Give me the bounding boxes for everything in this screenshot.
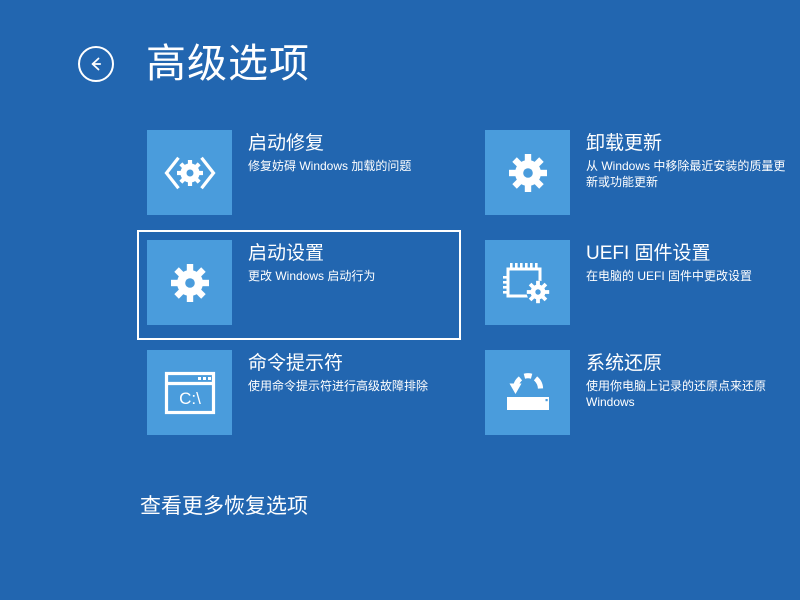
svg-text:C:\: C:\ — [179, 389, 201, 408]
option-text: 系统还原 使用你电脑上记录的还原点来还原 Windows — [570, 350, 789, 410]
option-description: 从 Windows 中移除最近安装的质量更新或功能更新 — [586, 158, 789, 190]
back-arrow-circle-icon[interactable] — [78, 46, 114, 82]
startup-repair-icon — [147, 130, 232, 215]
system-restore-disk-icon — [485, 350, 570, 435]
option-text: 启动设置 更改 Windows 启动行为 — [232, 240, 375, 284]
option-title: UEFI 固件设置 — [586, 242, 752, 266]
option-uninstall-updates[interactable]: 卸载更新 从 Windows 中移除最近安装的质量更新或功能更新 — [475, 120, 799, 230]
option-title: 启动修复 — [248, 132, 411, 156]
page-title: 高级选项 — [146, 44, 310, 84]
option-text: 卸载更新 从 Windows 中移除最近安装的质量更新或功能更新 — [570, 130, 789, 190]
option-system-restore[interactable]: 系统还原 使用你电脑上记录的还原点来还原 Windows — [475, 340, 799, 450]
see-more-recovery-options-link[interactable]: 查看更多恢复选项 — [140, 490, 308, 520]
option-title: 卸载更新 — [586, 132, 789, 156]
option-uefi-firmware-settings[interactable]: UEFI 固件设置 在电脑的 UEFI 固件中更改设置 — [475, 230, 799, 340]
option-startup-repair[interactable]: 启动修复 修复妨碍 Windows 加载的问题 — [137, 120, 461, 230]
option-description: 使用命令提示符进行高级故障排除 — [248, 378, 428, 394]
option-text: UEFI 固件设置 在电脑的 UEFI 固件中更改设置 — [570, 240, 752, 284]
command-prompt-icon: C:\ — [147, 350, 232, 435]
option-startup-settings[interactable]: 启动设置 更改 Windows 启动行为 — [137, 230, 461, 340]
option-text: 启动修复 修复妨碍 Windows 加载的问题 — [232, 130, 411, 174]
page-header: 高级选项 — [78, 36, 310, 92]
option-description: 在电脑的 UEFI 固件中更改设置 — [586, 268, 752, 284]
option-command-prompt[interactable]: C:\ 命令提示符 使用命令提示符进行高级故障排除 — [137, 340, 461, 450]
option-description: 使用你电脑上记录的还原点来还原 Windows — [586, 378, 789, 410]
advanced-options-grid: 启动修复 修复妨碍 Windows 加载的问题 — [137, 120, 767, 450]
uefi-firmware-chip-icon — [485, 240, 570, 325]
option-title: 启动设置 — [248, 242, 375, 266]
option-title: 系统还原 — [586, 352, 789, 376]
uninstall-updates-gear-icon — [485, 130, 570, 215]
option-description: 修复妨碍 Windows 加载的问题 — [248, 158, 411, 174]
option-description: 更改 Windows 启动行为 — [248, 268, 375, 284]
startup-settings-gear-icon — [147, 240, 232, 325]
option-text: 命令提示符 使用命令提示符进行高级故障排除 — [232, 350, 428, 394]
option-title: 命令提示符 — [248, 352, 428, 376]
